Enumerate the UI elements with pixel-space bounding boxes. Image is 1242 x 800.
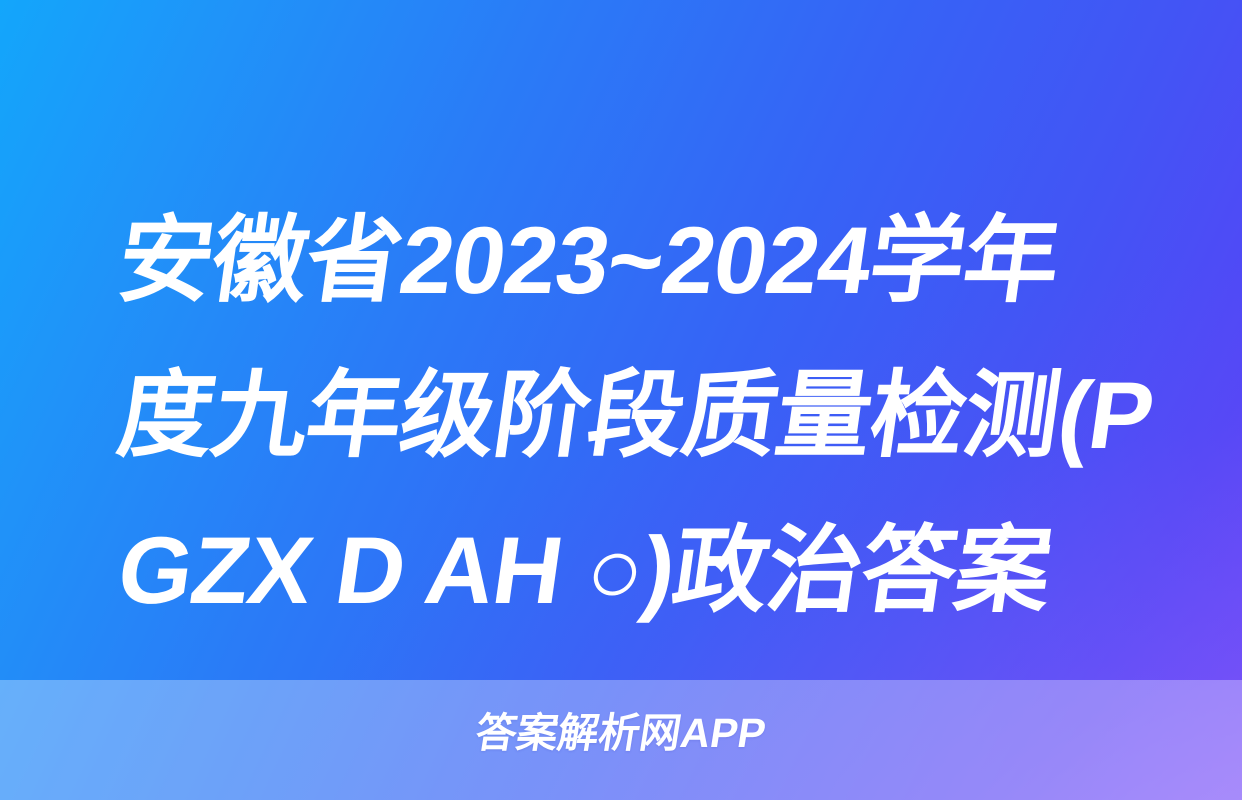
- title-line-2: 度九年级阶段质量检测(P: [108, 339, 1190, 494]
- page-title: 安徽省2023~2024学年 度九年级阶段质量检测(P GZX D AH ○)政…: [108, 184, 1168, 649]
- watermark: 答案解析网APP: [0, 708, 1242, 758]
- title-line-1: 安徽省2023~2024学年: [108, 184, 1190, 339]
- watermark-label: 答案解析网APP: [472, 708, 769, 758]
- title-line-3: GZX D AH ○)政治答案: [108, 494, 1190, 649]
- cover-card: 安徽省2023~2024学年 度九年级阶段质量检测(P GZX D AH ○)政…: [0, 0, 1242, 800]
